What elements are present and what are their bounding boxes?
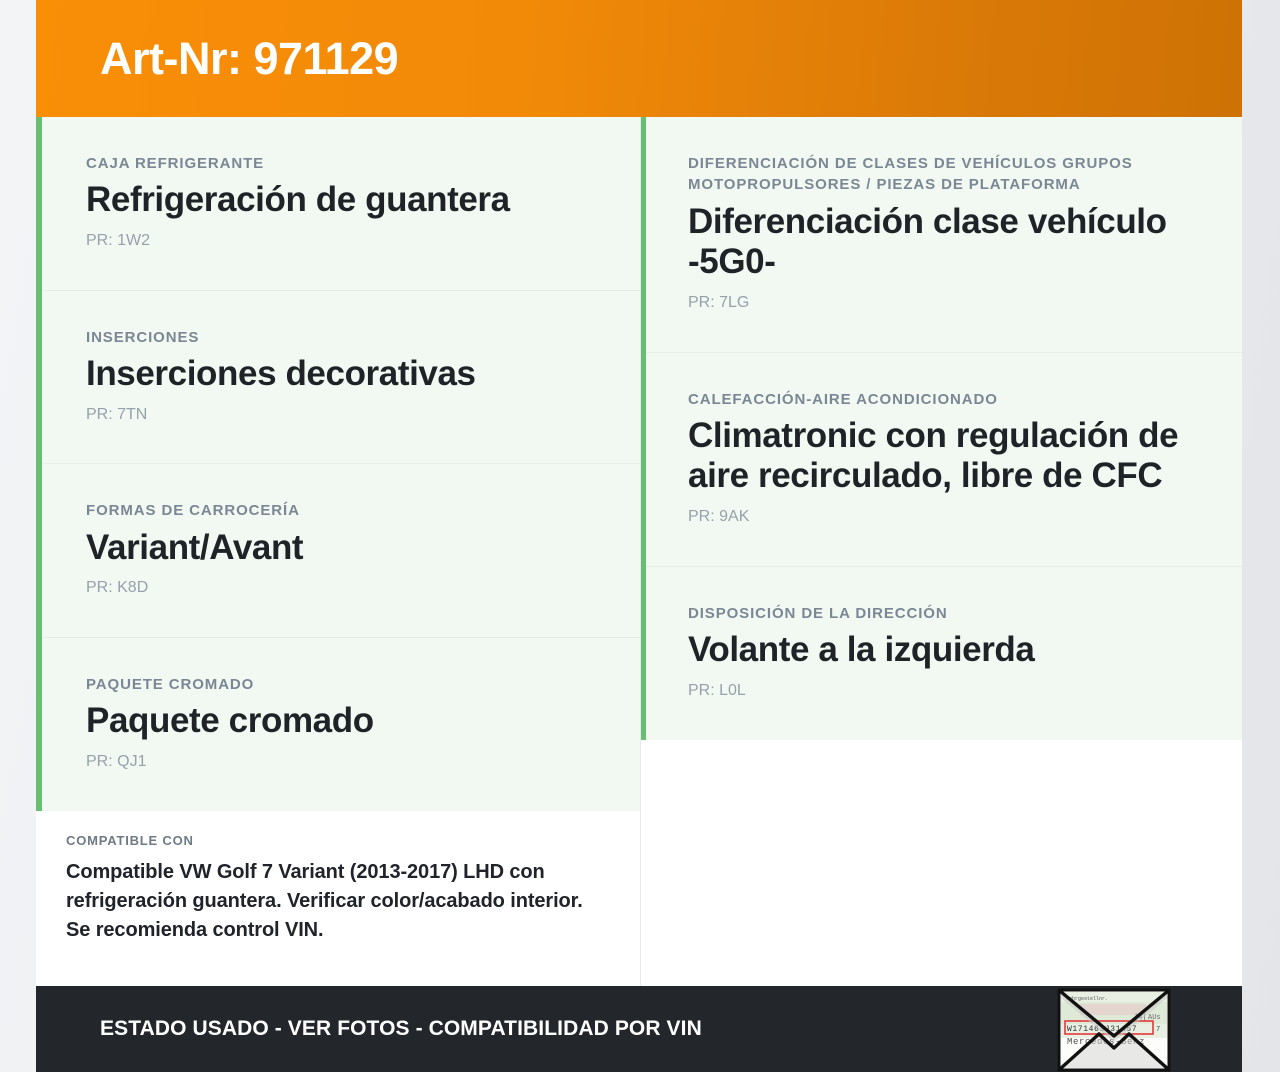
feature-title: Refrigeración de guantera	[86, 180, 596, 221]
feature-card[interactable]: INSERCIONES Inserciones decorativas PR: …	[42, 291, 640, 465]
feature-category: CAJA REFRIGERANTE	[86, 153, 596, 174]
feature-stack-left: CAJA REFRIGERANTE Refrigeración de guant…	[36, 117, 640, 811]
feature-pr-code: PR: QJ1	[86, 752, 596, 773]
feature-card[interactable]: PAQUETE CROMADO Paquete cromado PR: QJ1	[42, 638, 640, 811]
feature-pr-code: PR: K8D	[86, 578, 596, 599]
feature-pr-code: PR: 1W2	[86, 231, 596, 252]
feature-column-right: DIFERENCIACIÓN DE CLASES DE VEHÍCULOS GR…	[640, 117, 1242, 740]
feature-title: Volante a la izquierda	[688, 630, 1202, 671]
feature-title: Climatronic con regulación de aire recir…	[688, 416, 1202, 497]
feature-card[interactable]: CALEFACCIÓN-AIRE ACONDICIONADO Climatron…	[646, 353, 1242, 567]
svg-text:7: 7	[1156, 1026, 1160, 1034]
feature-category: DIFERENCIACIÓN DE CLASES DE VEHÍCULOS GR…	[688, 153, 1202, 196]
feature-pr-code: PR: 7LG	[688, 293, 1202, 314]
feature-pr-code: PR: 7TN	[86, 405, 596, 426]
feature-stack-right: DIFERENCIACIÓN DE CLASES DE VEHÍCULOS GR…	[640, 117, 1242, 740]
feature-column-left: CAJA REFRIGERANTE Refrigeración de guant…	[36, 117, 640, 971]
compatibility-text: Compatible VW Golf 7 Variant (2013-2017)…	[66, 858, 600, 945]
compatibility-label: COMPATIBLE CON	[66, 833, 600, 848]
listing-sheet: Art-Nr: 971129 CAJA REFRIGERANTE Refrige…	[36, 0, 1242, 1072]
feature-category: PAQUETE CROMADO	[86, 674, 596, 695]
feature-card[interactable]: CAJA REFRIGERANTE Refrigeración de guant…	[42, 117, 640, 291]
feature-pr-code: PR: 9AK	[688, 507, 1202, 528]
column-divider	[640, 117, 641, 986]
feature-category: INSERCIONES	[86, 327, 596, 348]
feature-title: Inserciones decorativas	[86, 354, 596, 395]
feature-pr-code: PR: L0L	[688, 681, 1202, 702]
page-title: Art-Nr: 971129	[100, 36, 398, 81]
feature-card[interactable]: DIFERENCIACIÓN DE CLASES DE VEHÍCULOS GR…	[646, 117, 1242, 353]
feature-title: Diferenciación clase vehículo -5G0-	[688, 202, 1202, 283]
feature-card[interactable]: DISPOSICIÓN DE LA DIRECCIÓN Volante a la…	[646, 567, 1242, 740]
feature-title: Paquete cromado	[86, 701, 596, 742]
feature-card[interactable]: FORMAS DE CARROCERÍA Variant/Avant PR: K…	[42, 464, 640, 638]
compatibility-section: COMPATIBLE CON Compatible VW Golf 7 Vari…	[36, 811, 640, 971]
feature-category: FORMAS DE CARROCERÍA	[86, 500, 596, 521]
envelope-vin-badge[interactable]: Fahrgestellnr. |4| AUs W171463J31457 7 M…	[1052, 986, 1176, 1072]
footer-condition-text: ESTADO USADO - VER FOTOS - COMPATIBILIDA…	[100, 1017, 702, 1041]
feature-columns: CAJA REFRIGERANTE Refrigeración de guant…	[36, 117, 1242, 971]
feature-title: Variant/Avant	[86, 528, 596, 569]
page-root: Art-Nr: 971129 CAJA REFRIGERANTE Refrige…	[0, 0, 1280, 1072]
header-bar: Art-Nr: 971129	[36, 0, 1242, 117]
feature-category: DISPOSICIÓN DE LA DIRECCIÓN	[688, 603, 1202, 624]
feature-category: CALEFACCIÓN-AIRE ACONDICIONADO	[688, 389, 1202, 410]
envelope-icon: Fahrgestellnr. |4| AUs W171463J31457 7 M…	[1052, 986, 1176, 1072]
